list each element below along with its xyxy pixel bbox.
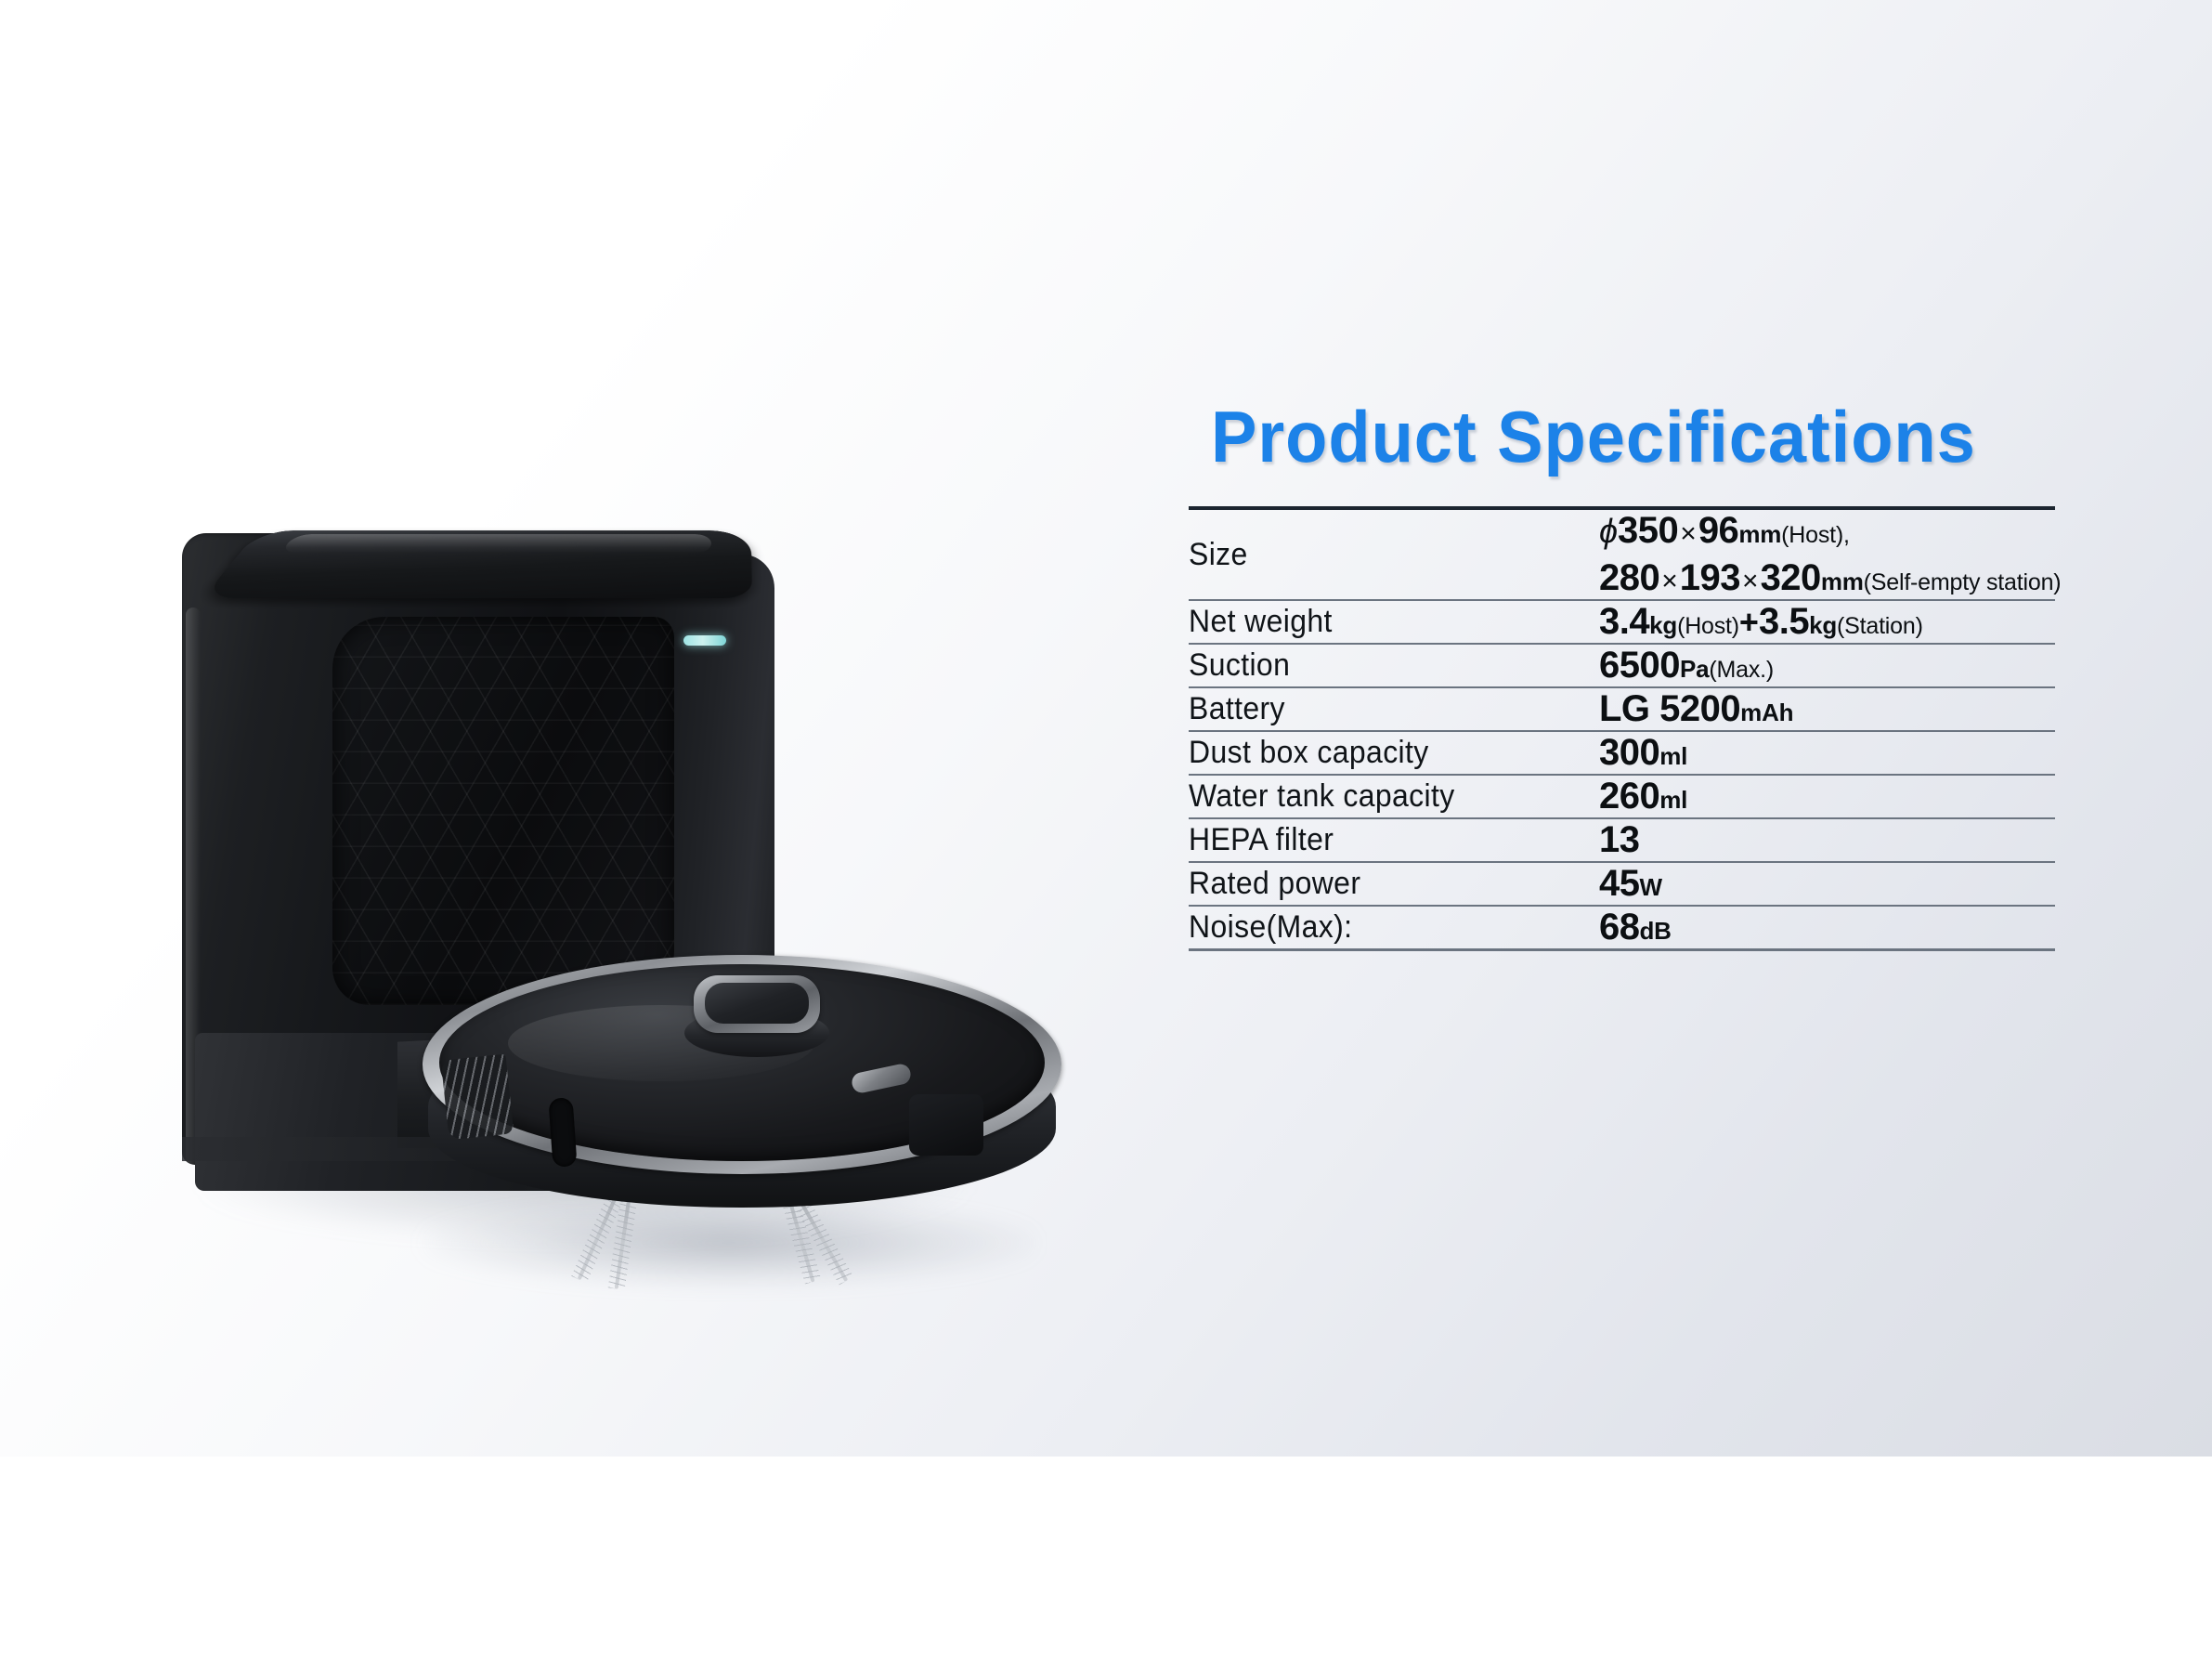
spec-label: Suction <box>1189 644 1574 687</box>
spec-value: 45W <box>1599 862 2055 906</box>
specifications-table: Size ϕ350×96mm(Host), 280×193×320mm(Self… <box>1189 506 2055 951</box>
table-row: Suction 6500Pa(Max.) <box>1189 644 2055 687</box>
spec-value: 6500Pa(Max.) <box>1599 644 2055 687</box>
spec-value: 300ml <box>1599 731 2055 775</box>
product-photo <box>0 0 1170 1457</box>
robot-vacuum <box>423 938 1063 1245</box>
table-row: Battery LG 5200mAh <box>1189 687 2055 731</box>
spec-label: Noise(Max): <box>1189 906 1574 950</box>
spec-value: 13 <box>1599 818 2055 862</box>
robot-side-slot <box>548 1097 577 1168</box>
spec-value: ϕ350×96mm(Host), 280×193×320mm(Self-empt… <box>1599 508 2055 600</box>
table-row: Net weight 3.4kg(Host)+3.5kg(Station) <box>1189 600 2055 644</box>
station-status-led-icon <box>683 635 726 646</box>
spec-label: Battery <box>1189 687 1574 731</box>
spec-label: Size <box>1189 508 1574 600</box>
spec-label: HEPA filter <box>1189 818 1574 862</box>
table-row: HEPA filter 13 <box>1189 818 2055 862</box>
phi-symbol: ϕ <box>1599 512 1618 550</box>
table-row: Rated power 45W <box>1189 862 2055 906</box>
spec-label: Water tank capacity <box>1189 775 1574 818</box>
robot-vent-grille <box>441 1054 514 1141</box>
spec-label: Net weight <box>1189 600 1574 644</box>
lidar-turret-face <box>705 983 809 1024</box>
spec-label: Dust box capacity <box>1189 731 1574 775</box>
robot-sensor-window <box>909 1094 983 1156</box>
table-row: Size ϕ350×96mm(Host), 280×193×320mm(Self… <box>1189 508 2055 600</box>
spec-label: Rated power <box>1189 862 1574 906</box>
table-row: Dust box capacity 300ml <box>1189 731 2055 775</box>
table-row: Noise(Max): 68dB <box>1189 906 2055 950</box>
station-lid-gloss <box>280 534 711 553</box>
spec-value: LG 5200mAh <box>1599 687 2055 731</box>
page-title: Product Specifications <box>1211 399 2036 475</box>
specifications-panel: Product Specifications Size ϕ350×96mm(Ho… <box>1189 399 2080 951</box>
table-row: Water tank capacity 260ml <box>1189 775 2055 818</box>
station-top-lid <box>202 530 752 598</box>
spec-value: 68dB <box>1599 906 2055 950</box>
slide-canvas: Product Specifications Size ϕ350×96mm(Ho… <box>0 0 2212 1457</box>
spec-value: 3.4kg(Host)+3.5kg(Station) <box>1599 600 2055 644</box>
spec-value: 260ml <box>1599 775 2055 818</box>
